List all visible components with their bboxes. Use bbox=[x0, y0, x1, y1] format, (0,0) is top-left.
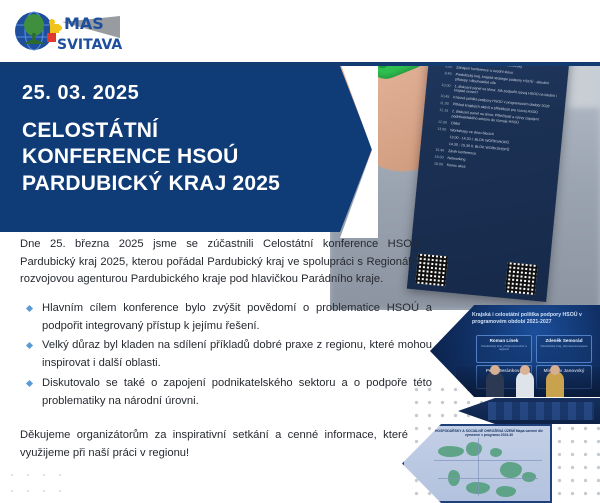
diamond-bullet-icon bbox=[26, 305, 33, 312]
slide-title: Krajská i celostátní politika podpory HS… bbox=[472, 312, 597, 326]
bullet-item: Velký důraz byl kladen na sdílení příkla… bbox=[20, 337, 432, 372]
speaker-role: Pardubický kraj, příprava koncepce bbox=[537, 345, 591, 349]
program-time: 9.40 bbox=[437, 71, 452, 81]
speaker-card: Roman Línek Pardubický kraj, přítomnost … bbox=[476, 335, 532, 363]
event-title-line-1: CELOSTÁTNÍ bbox=[22, 118, 372, 144]
program-time: 11.15 bbox=[433, 108, 448, 118]
program-item: Konec akce bbox=[447, 163, 466, 169]
intro-paragraph: Dne 25. března 2025 jsme se zúčastnili C… bbox=[20, 236, 420, 289]
map-region-blob bbox=[522, 472, 536, 482]
map-region-blob bbox=[466, 442, 482, 456]
speaker-role: Pardubický kraj, přítomnost obcí a regio… bbox=[477, 345, 531, 353]
program-rows: Moderuje: Beránková, Miroslav Janovský9.… bbox=[428, 57, 562, 181]
program-time: 11.00 bbox=[435, 101, 449, 107]
bullet-list: Hlavním cílem konference bylo zvýšit pov… bbox=[20, 300, 432, 410]
event-title-line-2: KONFERENCE HSOÚ bbox=[22, 144, 372, 170]
map-region-blob bbox=[500, 462, 522, 478]
program-time: 10.00 bbox=[436, 82, 451, 92]
program-time bbox=[431, 141, 445, 147]
qr-code-icon bbox=[505, 262, 538, 295]
bullet-text: Diskutovalo se také o zapojení podnikate… bbox=[42, 377, 432, 407]
map-region-blob bbox=[438, 446, 464, 457]
speaker-name: Roman Línek bbox=[477, 338, 531, 344]
event-title: CELOSTÁTNÍ KONFERENCE HSOÚ PARDUBICKÝ KR… bbox=[22, 118, 372, 197]
map-region-blob bbox=[496, 486, 516, 497]
header-rule bbox=[0, 62, 600, 66]
halftone-dots-left bbox=[4, 467, 74, 501]
panelist-figure bbox=[546, 371, 564, 397]
logo-text-svitava: SVITAVA bbox=[57, 37, 122, 53]
event-title-line-3: PARDUBICKÝ KRAJ 2025 bbox=[22, 171, 372, 197]
panelist-figure bbox=[486, 371, 504, 397]
program-time: 18.00 bbox=[429, 162, 443, 168]
event-date: 25. 03. 2025 bbox=[22, 82, 372, 105]
bullet-item: Diskutovalo se také o zapojení podnikate… bbox=[20, 375, 432, 410]
title-banner: 25. 03. 2025 CELOSTÁTNÍ KONFERENCE HSOÚ … bbox=[0, 66, 372, 232]
bullet-item: Hlavním cílem konference bylo zvýšit pov… bbox=[20, 300, 432, 335]
speaker-card: Zdeněk Semorád Pardubický kraj, příprava… bbox=[536, 335, 592, 363]
diamond-bullet-icon bbox=[26, 342, 33, 349]
map-region-blob bbox=[490, 448, 502, 457]
program-item: Networking bbox=[447, 156, 465, 162]
post-body: Dne 25. března 2025 jsme se zúčastnili C… bbox=[0, 236, 430, 462]
bullet-text: Velký důraz byl kladen na sdílení příkla… bbox=[42, 339, 432, 369]
program-time: 16.00 bbox=[429, 155, 443, 161]
diamond-bullet-icon bbox=[26, 380, 33, 387]
panelist-figure bbox=[516, 371, 534, 397]
map-title: HOSPODÁŘSKY A SOCIÁLNĚ OHROŽENÁ ÚZEMÍ Ma… bbox=[434, 429, 544, 438]
program-time: 10.45 bbox=[435, 94, 449, 100]
header-bar: MAS SVITAVA bbox=[0, 0, 600, 62]
program-item: Oběd bbox=[451, 121, 460, 126]
program-time: 13.00 bbox=[432, 126, 446, 132]
logo-text-mas: MAS bbox=[64, 14, 104, 33]
bullet-text: Hlavním cílem konference bylo zvýšit pov… bbox=[42, 302, 432, 332]
program-time: 15.40 bbox=[430, 148, 444, 154]
program-time bbox=[431, 133, 445, 139]
mas-svitava-logo: MAS SVITAVA bbox=[8, 8, 128, 56]
program-time: 12.00 bbox=[433, 119, 447, 125]
social-media-post: PROGRAM Moderuje: Beránková, Miroslav Ja… bbox=[0, 0, 600, 503]
closing-paragraph: Děkujeme organizátorům za inspirativní s… bbox=[20, 426, 408, 462]
program-item: Závěr konference bbox=[448, 149, 476, 156]
speaker-name: Zdeněk Semorád bbox=[537, 338, 591, 344]
